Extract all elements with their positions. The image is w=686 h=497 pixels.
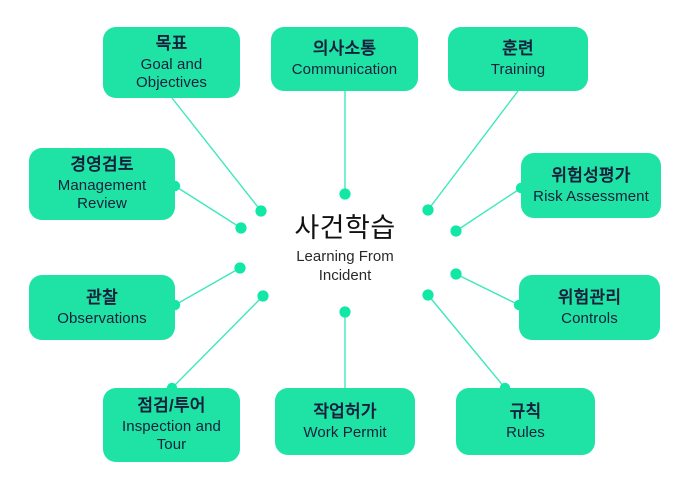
node-label-english-line2-mgmt: Review: [58, 195, 147, 213]
conn-controls-center-dot: [450, 268, 461, 279]
node-label-korean-controls: 위험관리: [558, 288, 621, 308]
conn-risk-line: [456, 188, 521, 231]
node-label-english-training: Training: [491, 61, 545, 79]
node-label-english-line1-rules: Rules: [506, 424, 545, 442]
conn-mgmt-line: [175, 186, 241, 228]
center-title-korean: 사건학습: [273, 213, 417, 244]
node-label-korean-inspection: 점검/투어: [137, 396, 205, 416]
center-title-english-line2: Incident: [273, 267, 417, 286]
conn-observe-center-dot: [234, 262, 245, 273]
conn-training-line: [428, 91, 518, 210]
node-label-english-permit: Work Permit: [303, 424, 386, 442]
conn-training-center-dot: [422, 204, 433, 215]
node-label-korean-training: 훈련: [502, 39, 534, 59]
node-label-english-mgmt: ManagementReview: [58, 177, 147, 212]
conn-inspection-line: [172, 296, 263, 388]
node-box-observe[interactable]: 관찰Observations: [29, 275, 175, 340]
node-label-korean-permit: 작업허가: [313, 402, 376, 422]
node-box-comm[interactable]: 의사소통Communication: [271, 27, 418, 91]
node-box-rules[interactable]: 규칙Rules: [456, 388, 595, 455]
conn-goal-center-dot: [255, 205, 266, 216]
node-label-english-inspection: Inspection andTour: [122, 418, 221, 453]
node-label-english-line1-controls: Controls: [561, 310, 618, 328]
node-label-english-observe: Observations: [57, 310, 147, 328]
node-box-inspection[interactable]: 점검/투어Inspection andTour: [103, 388, 240, 462]
node-label-english-comm: Communication: [292, 61, 398, 79]
center-title-english: Learning From Incident: [273, 248, 417, 286]
node-label-english-line2-goal: Objectives: [136, 74, 207, 92]
node-label-english-goal: Goal andObjectives: [136, 56, 207, 91]
node-label-english-line1-permit: Work Permit: [303, 424, 386, 442]
conn-rules-line: [428, 295, 505, 388]
conn-controls-line: [456, 274, 519, 305]
node-box-controls[interactable]: 위험관리Controls: [519, 275, 660, 340]
node-label-korean-risk: 위험성평가: [551, 166, 630, 186]
node-label-english-line1-comm: Communication: [292, 61, 398, 79]
node-label-english-line1-training: Training: [491, 61, 545, 79]
node-box-training[interactable]: 훈련Training: [448, 27, 588, 91]
conn-comm-center-dot: [339, 188, 350, 199]
node-label-english-line1-mgmt: Management: [58, 177, 147, 195]
conn-goal-line: [172, 98, 261, 211]
node-label-english-risk: Risk Assessment: [533, 188, 649, 206]
node-box-permit[interactable]: 작업허가Work Permit: [275, 388, 415, 455]
node-label-english-rules: Rules: [506, 424, 545, 442]
node-label-korean-comm: 의사소통: [313, 39, 376, 59]
node-label-korean-goal: 목표: [156, 34, 188, 54]
node-box-risk[interactable]: 위험성평가Risk Assessment: [521, 153, 661, 218]
node-label-english-controls: Controls: [561, 310, 618, 328]
node-label-english-line1-inspection: Inspection and: [122, 418, 221, 436]
center-label: 사건학습 Learning From Incident: [273, 213, 417, 286]
node-label-korean-observe: 관찰: [86, 288, 118, 308]
conn-observe-line: [175, 268, 240, 305]
learning-from-incident-diagram: 목표Goal andObjectives의사소통Communication훈련T…: [0, 0, 686, 497]
node-box-goal[interactable]: 목표Goal andObjectives: [103, 27, 240, 98]
conn-risk-center-dot: [450, 225, 461, 236]
conn-rules-center-dot: [422, 289, 433, 300]
node-label-english-line1-risk: Risk Assessment: [533, 188, 649, 206]
node-box-mgmt[interactable]: 경영검토ManagementReview: [29, 148, 175, 220]
node-label-english-line1-observe: Observations: [57, 310, 147, 328]
conn-inspection-center-dot: [257, 290, 268, 301]
center-title-english-line1: Learning From: [273, 248, 417, 267]
node-label-english-line1-goal: Goal and: [136, 56, 207, 74]
conn-permit-center-dot: [339, 306, 350, 317]
node-label-korean-rules: 규칙: [510, 402, 542, 422]
node-label-korean-mgmt: 경영검토: [70, 155, 133, 175]
conn-mgmt-center-dot: [235, 222, 246, 233]
node-label-english-line2-inspection: Tour: [122, 436, 221, 454]
